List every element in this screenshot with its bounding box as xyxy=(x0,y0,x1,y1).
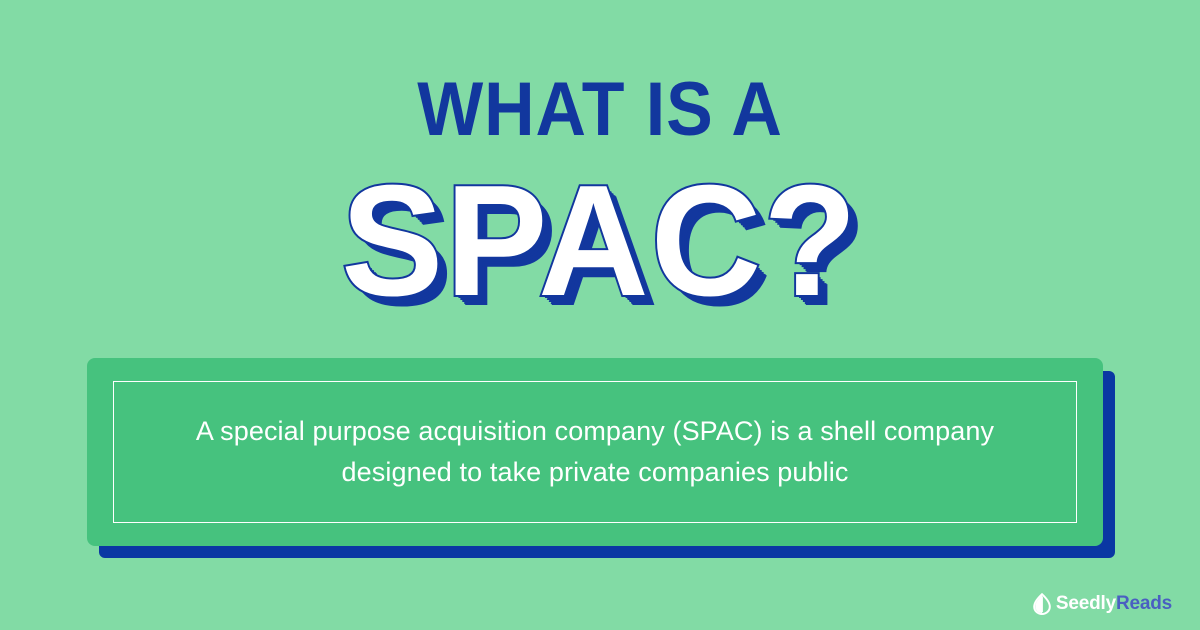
seedly-leaf-icon xyxy=(1032,593,1052,615)
brand-logo: SeedlyReads xyxy=(1032,592,1172,616)
definition-card: A special purpose acquisition company (S… xyxy=(87,358,1103,546)
brand-logo-wordmark: SeedlyReads xyxy=(1056,593,1172,615)
card-body-text: A special purpose acquisition company (S… xyxy=(134,411,1056,493)
card-inner-border: A special purpose acquisition company (S… xyxy=(113,381,1077,523)
brand-word-reads: Reads xyxy=(1116,593,1172,614)
headline-block: WHAT IS A SPAC? xyxy=(0,72,1200,320)
headline-kicker: WHAT IS A xyxy=(48,72,1152,148)
card-body-line-2: designed to take private companies publi… xyxy=(134,452,1056,493)
headline-main-title: SPAC? xyxy=(18,162,1182,320)
social-card-canvas: WHAT IS A SPAC? A special purpose acquis… xyxy=(0,0,1200,630)
brand-word-seedly: Seedly xyxy=(1056,593,1116,614)
card-body-line-1: A special purpose acquisition company (S… xyxy=(134,411,1056,452)
